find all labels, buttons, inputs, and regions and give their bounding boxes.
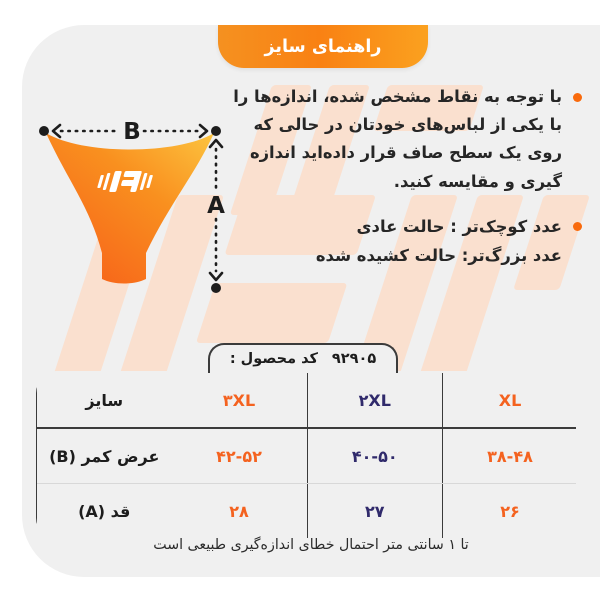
dimension-a-label: A [207, 193, 225, 219]
bullet-dot-icon [573, 222, 582, 231]
instructions-block: با توجه به نقاط مشخص شده، اندازه‌ها را ب… [224, 83, 582, 287]
bullet-dot-icon [573, 93, 582, 102]
instruction-text-1: با توجه به نقاط مشخص شده، اندازه‌ها را ب… [224, 83, 562, 196]
product-code-pill: ۹۲۹۰۵ کد محصول : [208, 343, 398, 373]
cell-waist-xl: ۳۸-۴۸ [443, 428, 579, 484]
size-table: XL ۲XL ۳XL سایز ۳۸-۴۸ ۴۰-۵۰ ۴۲-۵۲ عرض کم… [34, 371, 578, 540]
cell-length-2xl: ۲۷ [307, 484, 443, 540]
table-header-row-label: سایز [36, 372, 172, 428]
row-label-waist: عرض کمر (B) [36, 428, 172, 484]
dimension-b-marker: B [39, 119, 221, 145]
cell-waist-3xl: ۴۲-۵۲ [172, 428, 308, 484]
cell-length-xl: ۲۶ [443, 484, 579, 540]
table-header-row: XL ۲XL ۳XL سایز [36, 372, 578, 428]
instruction-bullet-1: با توجه به نقاط مشخص شده، اندازه‌ها را ب… [224, 83, 582, 196]
garment-shape [46, 133, 214, 284]
table-header-size-xl: XL [443, 372, 579, 428]
dimension-b-label: B [123, 119, 141, 145]
size-guide-page: راهنمای سایز با توجه به نقاط مشخص شده، ا… [0, 0, 600, 600]
measurement-tolerance-note: تا ۱ سانتی متر احتمال خطای اندازه‌گیری ط… [22, 537, 600, 553]
header-tab: راهنمای سایز [218, 25, 428, 68]
content-panel: راهنمای سایز با توجه به نقاط مشخص شده، ا… [22, 25, 600, 577]
table-header-size-2xl: ۲XL [307, 372, 443, 428]
table-header-size-3xl: ۳XL [172, 372, 308, 428]
table-row: ۳۸-۴۸ ۴۰-۵۰ ۴۲-۵۲ عرض کمر (B) [36, 428, 578, 484]
instruction-text-2b: عدد بزرگ‌تر: حالت کشیده شده [224, 241, 562, 271]
cell-waist-2xl: ۴۰-۵۰ [307, 428, 443, 484]
product-code-value: ۹۲۹۰۵ [332, 351, 376, 367]
dimension-a-marker: A [207, 140, 225, 293]
row-label-length: قد (A) [36, 484, 172, 540]
cell-length-3xl: ۲۸ [172, 484, 308, 540]
product-code-label: کد محصول : [230, 351, 318, 367]
garment-illustration: B A [28, 103, 243, 313]
instruction-text-2a: عدد کوچک‌تر : حالت عادی [224, 212, 562, 242]
instruction-bullet-2: عدد کوچک‌تر : حالت عادی عدد بزرگ‌تر: حال… [224, 212, 582, 271]
table-row: ۲۶ ۲۷ ۲۸ قد (A) [36, 484, 578, 540]
page-title: راهنمای سایز [264, 37, 381, 57]
